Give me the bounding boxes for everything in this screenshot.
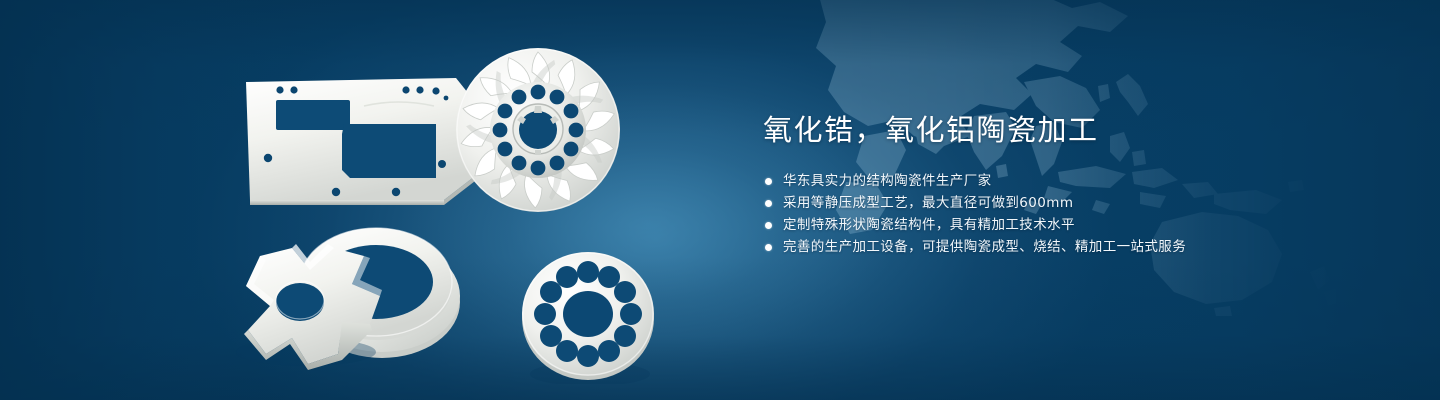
ceramic-products-photo — [230, 34, 710, 384]
banner-copy: 氧化锆，氧化铝陶瓷加工 华东具实力的结构陶瓷件生产厂家 采用等静压成型工艺，最大… — [763, 112, 1363, 258]
ceramic-cross-vane-part-shape — [236, 244, 382, 370]
list-item-label: 华东具实力的结构陶瓷件生产厂家 — [783, 170, 992, 192]
list-item: 华东具实力的结构陶瓷件生产厂家 — [763, 170, 1363, 192]
list-item: 定制特殊形状陶瓷结构件，具有精加工技术水平 — [763, 214, 1363, 236]
list-item: 采用等静压成型工艺，最大直径可做到600mm — [763, 192, 1363, 214]
bullet-dot-icon — [765, 244, 772, 251]
feature-list: 华东具实力的结构陶瓷件生产厂家 采用等静压成型工艺，最大直径可做到600mm 定… — [763, 170, 1363, 258]
hero-banner: 氧化锆，氧化铝陶瓷加工 华东具实力的结构陶瓷件生产厂家 采用等静压成型工艺，最大… — [0, 0, 1440, 400]
ceramic-impeller-disc-shape — [456, 48, 620, 212]
bullet-dot-icon — [765, 178, 772, 185]
list-item-label: 采用等静压成型工艺，最大直径可做到600mm — [783, 192, 1073, 214]
list-item: 完善的生产加工设备，可提供陶瓷成型、烧结、精加工一站式服务 — [763, 236, 1363, 258]
ceramic-machined-plate-shape — [246, 78, 488, 205]
bullet-dot-icon — [765, 200, 772, 207]
list-item-label: 完善的生产加工设备，可提供陶瓷成型、烧结、精加工一站式服务 — [783, 236, 1186, 258]
bullet-dot-icon — [765, 222, 772, 229]
ceramic-perforated-disc-shape — [522, 252, 654, 384]
page-title: 氧化锆，氧化铝陶瓷加工 — [763, 112, 1363, 148]
list-item-label: 定制特殊形状陶瓷结构件，具有精加工技术水平 — [783, 214, 1075, 236]
